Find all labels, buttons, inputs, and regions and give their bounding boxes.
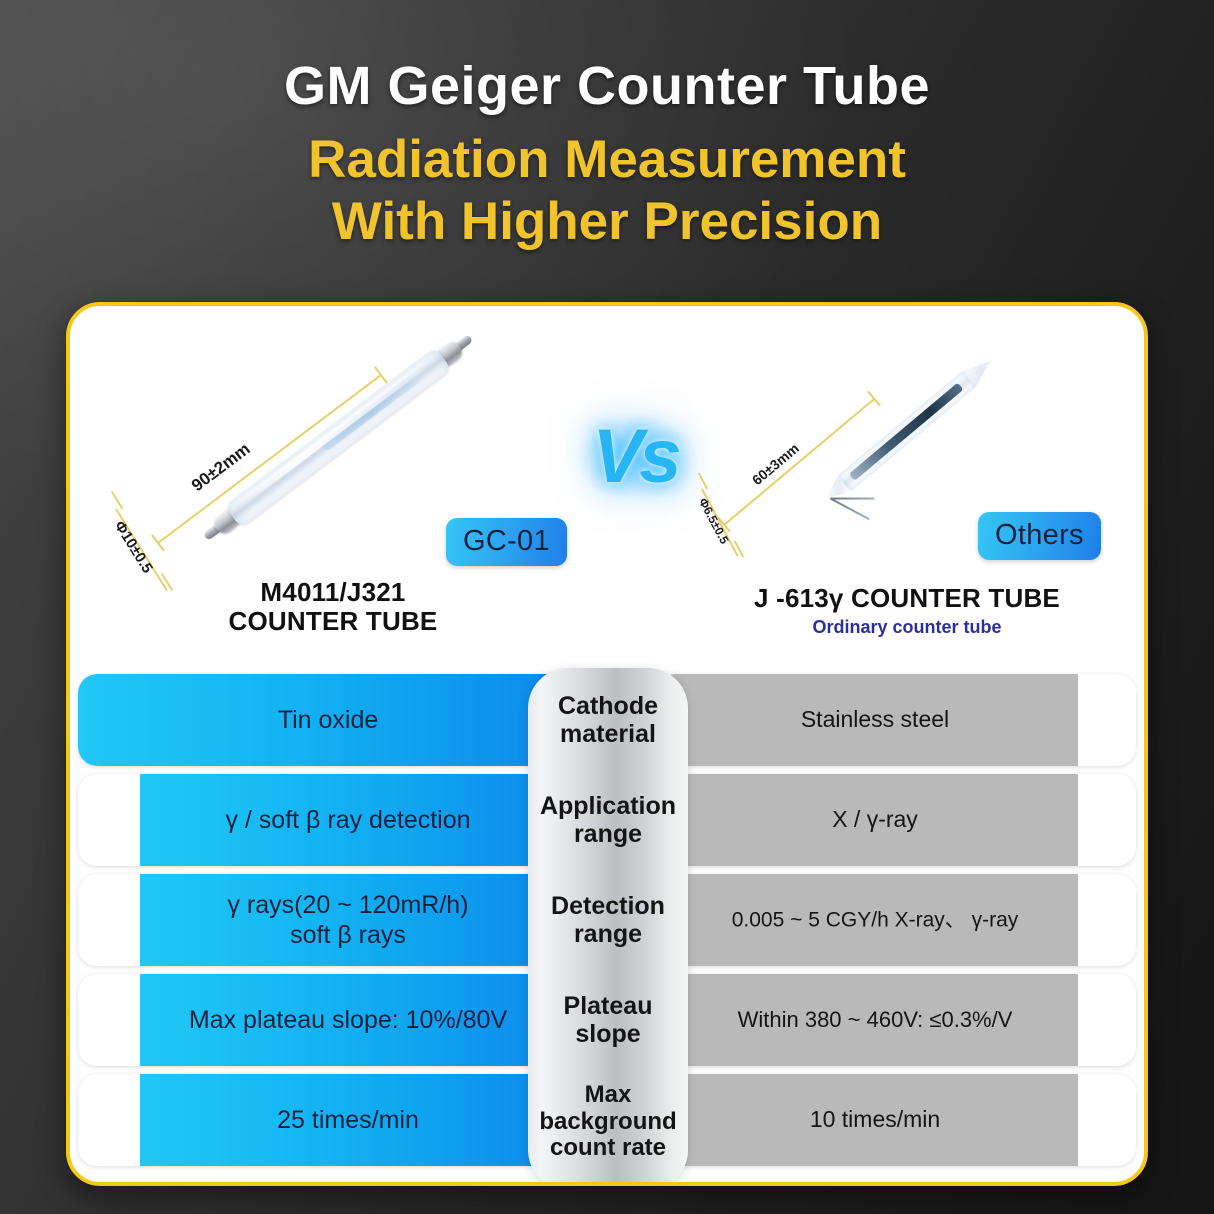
product-showcase: 90±2mm Φ10±0.5 GC-01 M4011/J321 COUNTER … xyxy=(70,306,1144,668)
product-name-line-1-ours: M4011/J321 xyxy=(98,578,568,607)
tube-stage-ours: 90±2mm Φ10±0.5 GC-01 xyxy=(98,306,568,578)
others-value-detection-range: 0.005 ~ 5 CGY/h X-ray、 γ-ray xyxy=(656,874,1136,966)
comparison-table: Tin oxide Stainless steel γ / soft β ray… xyxy=(70,668,1144,1186)
page-subtitle: Radiation Measurement With Higher Precis… xyxy=(0,129,1214,252)
others-value-cathode-material: Stainless steel xyxy=(656,674,1136,766)
vs-emblem: Vs xyxy=(576,414,694,500)
product-others: 60±3mm Φ6.5±0.5 Others J -613γ COUNTER T… xyxy=(682,306,1132,666)
attribute-application-range: Application range xyxy=(528,774,688,866)
attribute-plateau-slope: Plateau slope xyxy=(528,974,688,1066)
attribute-max-background-count-rate: Max background count rate xyxy=(528,1074,688,1170)
others-value-plateau-slope: Within 380 ~ 460V: ≤0.3%/V xyxy=(656,974,1136,1066)
page-title: GM Geiger Counter Tube xyxy=(0,58,1214,115)
others-value-application-range: X / γ-ray xyxy=(656,774,1136,866)
others-value-max-background-count-rate: 10 times/min xyxy=(656,1074,1136,1166)
product-note-others: Ordinary counter tube xyxy=(682,617,1132,638)
ours-value-cathode-material: Tin oxide xyxy=(78,674,578,766)
dimension-length-label-ours: 90±2mm xyxy=(188,439,254,496)
ours-value-max-background-count-rate: 25 times/min xyxy=(78,1074,578,1166)
ours-value-application-range: γ / soft β ray detection xyxy=(78,774,578,866)
ours-detection-range-line-1: γ rays(20 ~ 120mR/h) xyxy=(132,890,564,920)
product-ours: 90±2mm Φ10±0.5 GC-01 M4011/J321 COUNTER … xyxy=(98,306,568,666)
dimension-diameter-label-ours: Φ10±0.5 xyxy=(111,518,156,576)
geiger-tube-illustration-others xyxy=(827,356,994,501)
ours-detection-range-line-2: soft β rays xyxy=(132,920,564,950)
badge-others: Others xyxy=(978,512,1101,560)
product-caption-ours: M4011/J321 COUNTER TUBE xyxy=(98,578,568,636)
attribute-detection-range: Detection range xyxy=(528,874,688,966)
ours-value-plateau-slope: Max plateau slope: 10%/80V xyxy=(78,974,578,1066)
attribute-column: Cathode material Application range Detec… xyxy=(528,668,688,1186)
badge-gc-01: GC-01 xyxy=(446,518,567,566)
attribute-cathode-material: Cathode material xyxy=(528,674,688,766)
tube-stage-others: 60±3mm Φ6.5±0.5 Others xyxy=(682,306,1132,578)
geiger-tube-illustration-ours xyxy=(210,336,466,538)
product-name-line-1-others: J -613γ COUNTER TUBE xyxy=(682,584,1132,613)
infographic-canvas: GM Geiger Counter Tube Radiation Measure… xyxy=(0,0,1214,1214)
ours-value-detection-range: γ rays(20 ~ 120mR/h) soft β rays xyxy=(78,874,578,966)
header: GM Geiger Counter Tube Radiation Measure… xyxy=(0,58,1214,252)
content-card: 90±2mm Φ10±0.5 GC-01 M4011/J321 COUNTER … xyxy=(66,302,1148,1186)
product-name-line-2-ours: COUNTER TUBE xyxy=(98,607,568,636)
subtitle-line-1: Radiation Measurement xyxy=(308,130,906,189)
product-caption-others: J -613γ COUNTER TUBE Ordinary counter tu… xyxy=(682,584,1132,638)
subtitle-line-2: With Higher Precision xyxy=(0,191,1214,252)
